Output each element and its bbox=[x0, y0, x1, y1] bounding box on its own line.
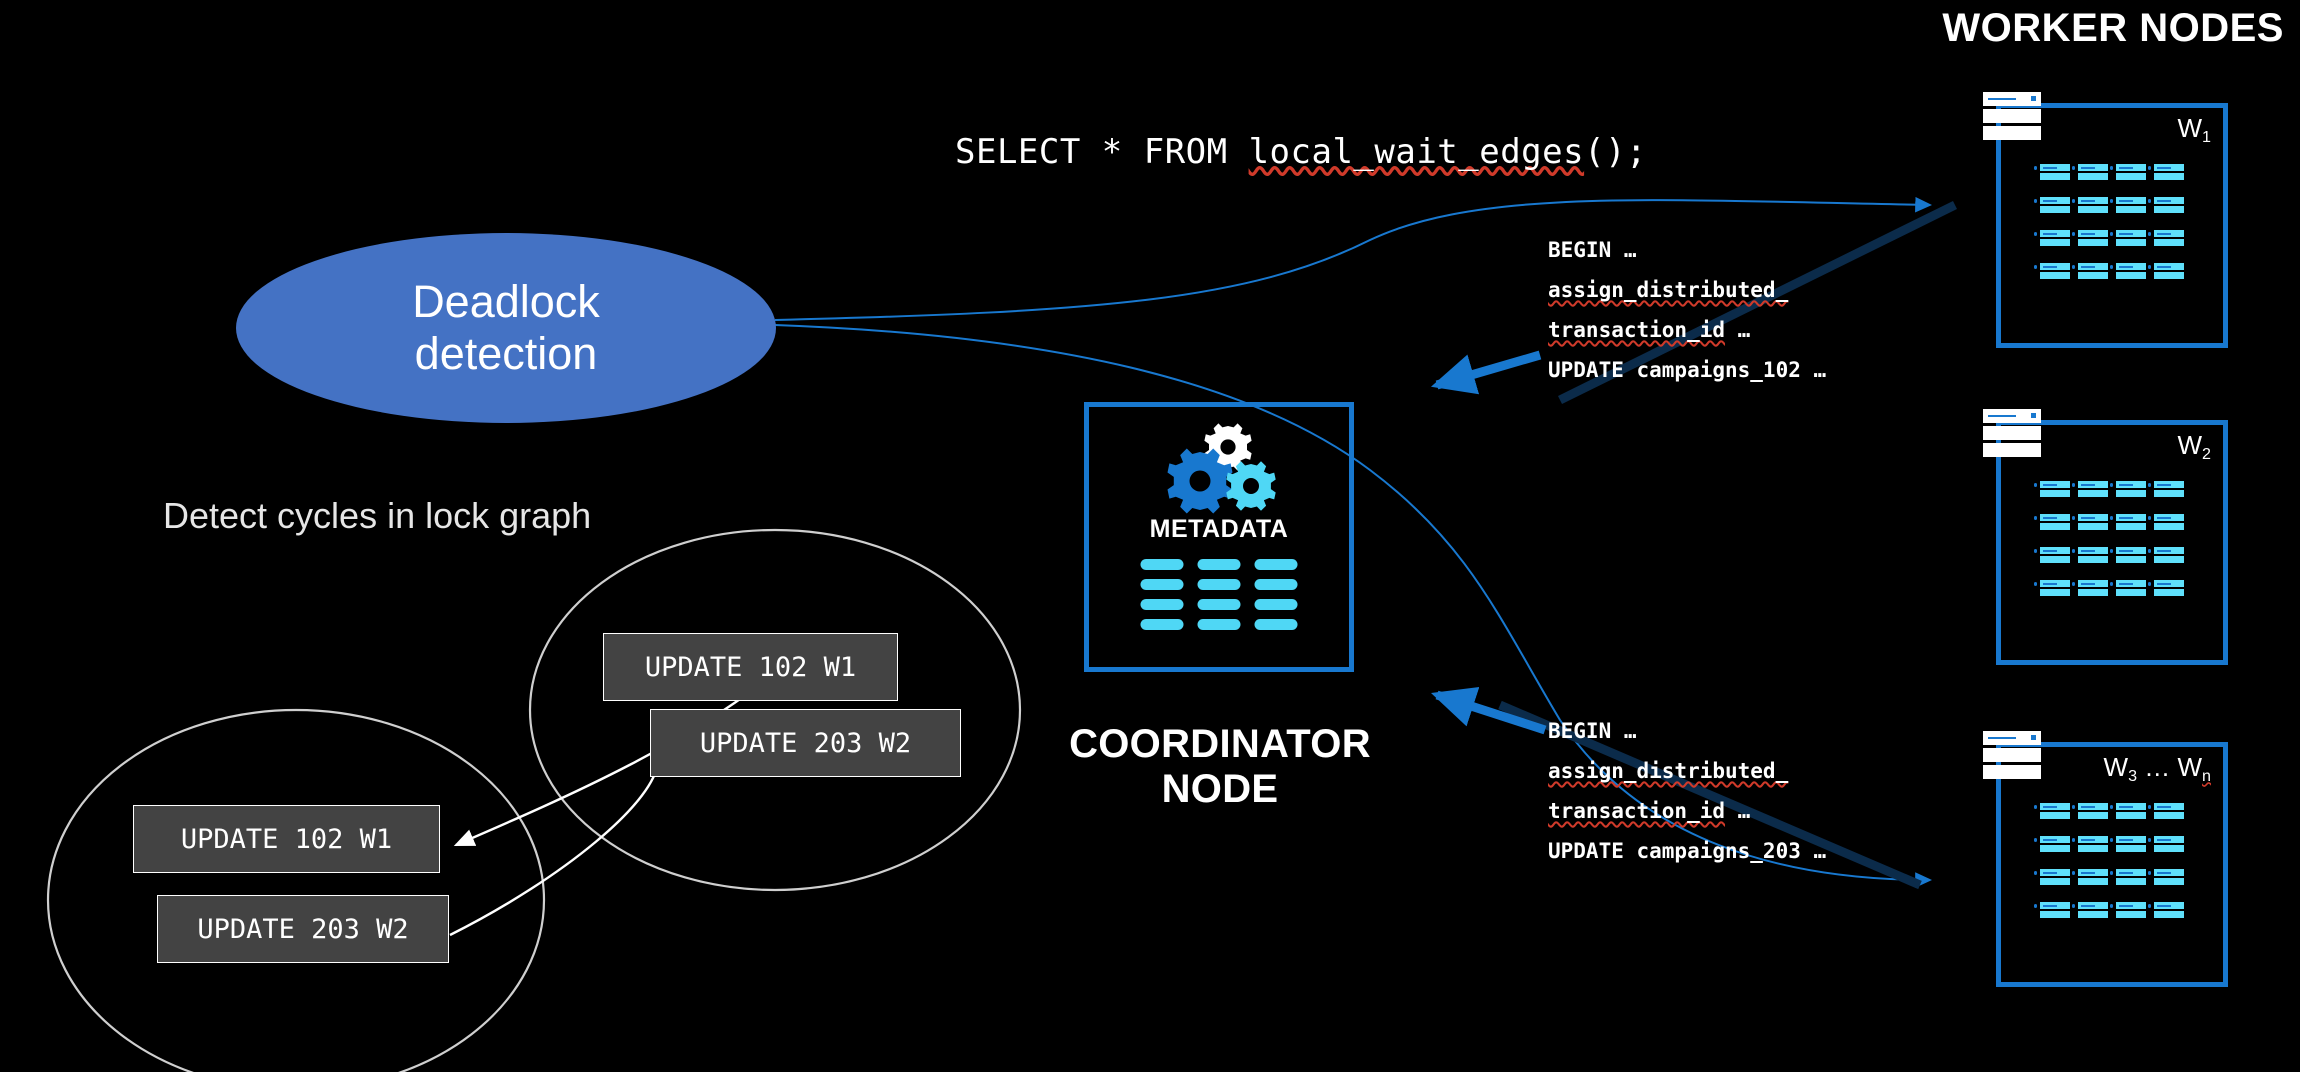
shard-block bbox=[2116, 547, 2146, 565]
shard-block bbox=[2116, 514, 2146, 532]
deadlock-detection-label: Deadlock detection bbox=[412, 276, 600, 380]
lock-graph-box-right-203: UPDATE 203 W2 bbox=[650, 709, 961, 777]
worker-node-1: W1 bbox=[1996, 103, 2228, 348]
metadata-row-bar bbox=[1141, 599, 1184, 610]
shard-block bbox=[2154, 803, 2184, 821]
server-stack-icon bbox=[1983, 92, 2041, 143]
shard-block bbox=[2154, 197, 2184, 215]
metadata-row-bar bbox=[1255, 619, 1298, 630]
server-stack-icon bbox=[1983, 409, 2041, 460]
sql-suffix: (); bbox=[1584, 132, 1647, 172]
worker-node-3: W3 … Wn bbox=[1996, 742, 2228, 987]
shard-block bbox=[2116, 869, 2146, 887]
detect-cycles-caption: Detect cycles in lock graph bbox=[163, 495, 591, 537]
shard-block bbox=[2154, 164, 2184, 182]
lock-edge-left-to-right bbox=[450, 758, 658, 935]
worker-1-label-sub: 1 bbox=[2202, 128, 2211, 146]
shard-block bbox=[2078, 514, 2108, 532]
metadata-row-bar bbox=[1255, 599, 1298, 610]
metadata-row-bar bbox=[1141, 579, 1184, 590]
diagram-canvas: WORKER NODES COORDINATOR NODE Deadlock d… bbox=[0, 0, 2300, 1072]
shard-block bbox=[2154, 836, 2184, 854]
metadata-row-bar bbox=[1198, 559, 1241, 570]
shard-block bbox=[2116, 902, 2146, 920]
shard-block bbox=[2040, 263, 2070, 281]
sql-function-name: local_wait_edges bbox=[1249, 132, 1585, 172]
txn2-line-transaction-id: transaction_id … bbox=[1548, 791, 1826, 831]
metadata-row-bar bbox=[1198, 619, 1241, 630]
arrow-txn2-to-coordinator bbox=[1437, 695, 1545, 730]
worker-node-2: W2 bbox=[1996, 420, 2228, 665]
shard-block bbox=[2040, 869, 2070, 887]
shard-block bbox=[2040, 230, 2070, 248]
shard-block bbox=[2078, 580, 2108, 598]
shard-block bbox=[2154, 902, 2184, 920]
shard-block bbox=[2078, 869, 2108, 887]
shard-block bbox=[2154, 514, 2184, 532]
worker-1-shard-grid bbox=[2040, 164, 2184, 281]
sql-prefix: SELECT * FROM bbox=[955, 132, 1249, 172]
lock-graph-box-left-203: UPDATE 203 W2 bbox=[157, 895, 449, 963]
worker-2-label-main: W bbox=[2177, 430, 2202, 460]
shard-block bbox=[2040, 902, 2070, 920]
worker-nodes-heading: WORKER NODES bbox=[1942, 6, 2284, 51]
shard-block bbox=[2078, 803, 2108, 821]
shard-block bbox=[2154, 869, 2184, 887]
lock-graph-box-left-102: UPDATE 102 W1 bbox=[133, 805, 440, 873]
shard-block bbox=[2154, 230, 2184, 248]
lock-graph-box-right-102: UPDATE 102 W1 bbox=[603, 633, 898, 701]
txn1-line-update: UPDATE campaigns_102 … bbox=[1548, 350, 1826, 390]
shard-block bbox=[2116, 580, 2146, 598]
worker-3-label-tail: … W bbox=[2137, 752, 2202, 782]
shard-block bbox=[2154, 580, 2184, 598]
metadata-label: METADATA bbox=[1089, 515, 1349, 544]
shard-block bbox=[2078, 902, 2108, 920]
shard-block bbox=[2040, 514, 2070, 532]
metadata-rows-grid bbox=[1141, 559, 1298, 630]
shard-block bbox=[2078, 481, 2108, 499]
shard-block bbox=[2154, 481, 2184, 499]
txn1-line-assign: assign_distributed_ bbox=[1548, 270, 1826, 310]
worker-2-shard-grid bbox=[2040, 481, 2184, 598]
arrow-txn1-to-coordinator bbox=[1437, 355, 1540, 385]
coordinator-node-box: METADATA bbox=[1084, 402, 1354, 672]
txn1-line-begin: BEGIN … bbox=[1548, 230, 1826, 270]
worker-node-2-label: W2 bbox=[2177, 430, 2211, 461]
shard-block bbox=[2078, 547, 2108, 565]
shard-block bbox=[2116, 230, 2146, 248]
txn1-transaction-id-token: transaction_id bbox=[1548, 318, 1725, 342]
shard-block bbox=[2078, 836, 2108, 854]
shard-block bbox=[2078, 230, 2108, 248]
worker-3-shard-grid bbox=[2040, 803, 2184, 920]
shard-block bbox=[2040, 164, 2070, 182]
sql-query-text: SELECT * FROM local_wait_edges(); bbox=[955, 132, 1647, 172]
shard-block bbox=[2078, 197, 2108, 215]
worker-3-label-sub: 3 bbox=[2128, 767, 2137, 785]
metadata-row-bar bbox=[1255, 579, 1298, 590]
shard-block bbox=[2078, 164, 2108, 182]
worker-3-label-main: W bbox=[2104, 752, 2129, 782]
shard-block bbox=[2116, 263, 2146, 281]
transaction-snippet-203: BEGIN … assign_distributed_ transaction_… bbox=[1548, 711, 1826, 871]
worker-node-1-label: W1 bbox=[2177, 113, 2211, 144]
shard-block bbox=[2154, 547, 2184, 565]
metadata-gears-icon bbox=[1154, 423, 1284, 515]
txn1-transaction-id-tail: … bbox=[1725, 318, 1750, 342]
shard-block bbox=[2116, 164, 2146, 182]
shard-block bbox=[2078, 263, 2108, 281]
metadata-row-bar bbox=[1141, 619, 1184, 630]
shard-block bbox=[2040, 836, 2070, 854]
server-stack-icon bbox=[1983, 731, 2041, 782]
shard-block bbox=[2116, 481, 2146, 499]
metadata-row-bar bbox=[1141, 559, 1184, 570]
worker-1-label-main: W bbox=[2177, 113, 2202, 143]
txn2-line-update: UPDATE campaigns_203 … bbox=[1548, 831, 1826, 871]
lock-cycle-ellipse-left bbox=[48, 710, 544, 1072]
coordinator-heading-line-2: NODE bbox=[1060, 767, 1380, 812]
shard-block bbox=[2154, 263, 2184, 281]
worker-3-label-sub-n: n bbox=[2202, 767, 2211, 785]
shard-block bbox=[2040, 481, 2070, 499]
txn2-transaction-id-tail: … bbox=[1725, 799, 1750, 823]
shard-block bbox=[2040, 580, 2070, 598]
transaction-snippet-102: BEGIN … assign_distributed_ transaction_… bbox=[1548, 230, 1826, 390]
metadata-row-bar bbox=[1255, 559, 1298, 570]
shard-block bbox=[2040, 547, 2070, 565]
worker-2-label-sub: 2 bbox=[2202, 445, 2211, 463]
shard-block bbox=[2040, 803, 2070, 821]
metadata-row-bar bbox=[1198, 599, 1241, 610]
worker-node-3-label: W3 … Wn bbox=[2104, 752, 2211, 783]
deadlock-detection-ellipse: Deadlock detection bbox=[236, 233, 776, 423]
coordinator-heading-line-1: COORDINATOR bbox=[1060, 722, 1380, 767]
txn1-line-transaction-id: transaction_id … bbox=[1548, 310, 1826, 350]
shard-block bbox=[2116, 836, 2146, 854]
shard-block bbox=[2040, 197, 2070, 215]
coordinator-node-heading: COORDINATOR NODE bbox=[1060, 722, 1380, 812]
txn2-transaction-id-token: transaction_id bbox=[1548, 799, 1725, 823]
metadata-row-bar bbox=[1198, 579, 1241, 590]
txn2-line-assign: assign_distributed_ bbox=[1548, 751, 1826, 791]
shard-block bbox=[2116, 197, 2146, 215]
txn2-line-begin: BEGIN … bbox=[1548, 711, 1826, 751]
shard-block bbox=[2116, 803, 2146, 821]
